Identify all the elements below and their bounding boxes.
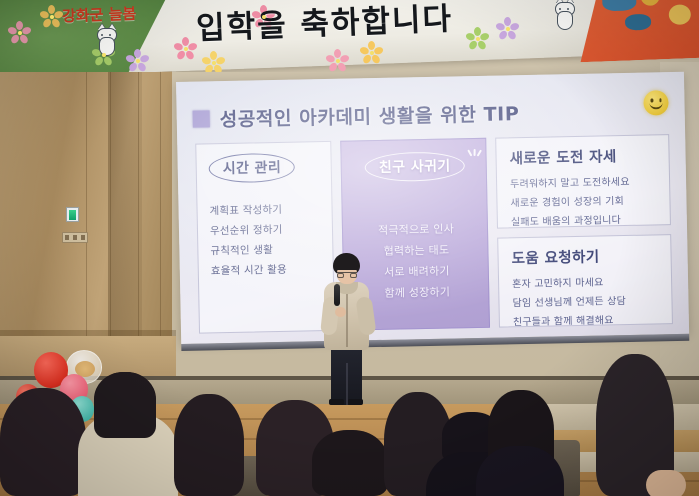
list-item: 서로 배려하기 — [384, 263, 450, 280]
list-item: 효율적 시간 활용 — [211, 261, 323, 278]
card-heading: 친구 사귀기 — [353, 151, 476, 182]
card-item-list: 계획표 작성하기 우선순위 정하기 규칙적인 생활 효율적 시간 활용 — [209, 201, 322, 278]
slide-card-new-challenge: 새로운 도전 자세 두려워하지 말고 도전하세요 새로운 경험이 성장의 기회 … — [495, 134, 671, 228]
slide-title-bar: 성공적인 아카데미 생활을 위한 TIP — [192, 92, 669, 136]
microphone-icon — [334, 284, 340, 306]
card-heading-text: 도움 요청하기 — [511, 244, 660, 268]
list-item: 담임 선생님께 언제든 상담 — [512, 291, 661, 309]
list-item: 규칙적인 생활 — [210, 241, 322, 258]
list-item: 함께 성장하기 — [384, 284, 450, 301]
glasses-icon — [337, 272, 357, 277]
list-item: 협력하는 태도 — [383, 242, 449, 259]
projection-screen: 성공적인 아카데미 생활을 위한 TIP 시간 관리 — [176, 72, 689, 344]
card-heading-text: 새로운 도전 자세 — [509, 144, 658, 168]
slide-title: 성공적인 아카데미 생활을 위한 TIP — [219, 99, 519, 132]
slide-card-asking-for-help: 도움 요청하기 혼자 고민하지 마세요 담임 선생님께 언제든 상담 친구들과 … — [497, 234, 673, 328]
list-item: 계획표 작성하기 — [209, 201, 321, 218]
cat-icon — [96, 28, 118, 58]
list-item: 두려워하지 말고 도전하세요 — [510, 172, 659, 190]
list-item: 새로운 경험이 성장의 기회 — [510, 191, 659, 209]
banner-orange-panel — [578, 0, 699, 62]
list-item: 친구들과 함께 해결해요 — [513, 310, 662, 328]
sparkle-icon — [331, 143, 335, 157]
list-item: 실패도 배움의 과정입니다 — [511, 210, 660, 228]
list-item: 우선순위 정하기 — [210, 221, 322, 238]
slide-column-left: 시간 관리 계획표 작성하기 우선순위 정하기 규칙적인 생활 효율적 시 — [195, 141, 335, 334]
card-item-list: 혼자 고민하지 마세요 담임 선생님께 언제든 상담 친구들과 함께 해결해요 — [512, 272, 662, 328]
card-heading-text: 시간 관리 — [208, 153, 295, 184]
wall-outlet-plate — [62, 232, 88, 243]
slide-card-time-management: 시간 관리 계획표 작성하기 우선순위 정하기 규칙적인 생활 효율적 시 — [195, 141, 335, 334]
card-item-list: 두려워하지 말고 도전하세요 새로운 경험이 성장의 기회 실패도 배움의 과정… — [510, 172, 660, 228]
list-item: 혼자 고민하지 마세요 — [512, 272, 661, 290]
presentation-slide: 성공적인 아카데미 생활을 위한 TIP 시간 관리 — [176, 72, 689, 344]
cat-icon — [554, 2, 576, 32]
congratulation-banner: 강화군 늘봄 입학을 축하합니다 — [0, 0, 699, 72]
banner-subtitle: 강화군 늘봄 — [62, 3, 137, 27]
list-item: 적극적으로 인사 — [378, 220, 454, 238]
presenter — [316, 253, 378, 405]
auditorium-presentation-photo: 강화군 늘봄 입학을 축하합니다 성공적인 아카데미 생활을 위한 TIP 시간… — [0, 0, 699, 496]
card-heading: 시간 관리 — [208, 152, 321, 183]
square-bullet-icon — [193, 110, 210, 127]
sparkle-icon — [465, 149, 479, 163]
slide-content: 시간 관리 계획표 작성하기 우선순위 정하기 규칙적인 생활 효율적 시 — [195, 134, 673, 333]
slide-column-right: 새로운 도전 자세 두려워하지 말고 도전하세요 새로운 경험이 성장의 기회 … — [495, 134, 673, 327]
card-heading-text: 친구 사귀기 — [365, 151, 465, 182]
emergency-exit-sign-icon — [66, 207, 79, 222]
